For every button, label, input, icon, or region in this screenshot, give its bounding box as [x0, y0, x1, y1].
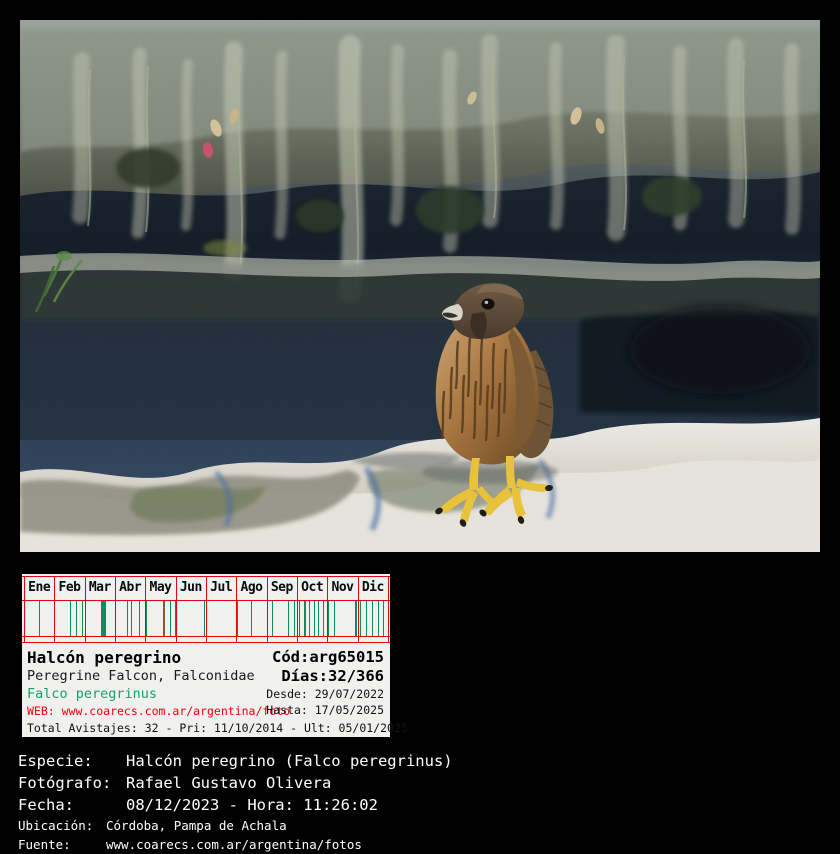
card-text-block: Halcón peregrino Peregrine Falcon, Falco…: [22, 648, 390, 737]
sighting-tick: [175, 601, 176, 636]
days-count: Días:32/366: [281, 667, 384, 685]
sighting-tick: [318, 601, 319, 636]
sighting-tick: [372, 601, 373, 636]
sighting-tick: [82, 601, 83, 636]
sighting-tick: [309, 601, 310, 636]
species-info-card: EneFebMarAbrMayJunJulAgoSepOctNovDic Hal…: [22, 574, 390, 737]
photograph: [20, 20, 820, 552]
sighting-tick: [251, 601, 252, 636]
sighting-tick: [237, 601, 238, 636]
metadata-label: Especie:: [18, 750, 126, 772]
metadata-row: Fotógrafo:Rafael Gustavo Olivera: [18, 772, 822, 794]
sighting-tick: [146, 601, 147, 636]
common-name: Halcón peregrino: [27, 648, 181, 667]
sighting-tick: [204, 601, 205, 636]
calendar-month-label-jul: Jul: [206, 576, 236, 598]
sighting-tick: [378, 601, 379, 636]
calendar-rule: [22, 642, 390, 643]
metadata-value: 08/12/2023 - Hora: 11:26:02: [126, 794, 378, 816]
metadata-value: Córdoba, Pampa de Achala: [106, 816, 287, 835]
metadata-value: Rafael Gustavo Olivera: [126, 772, 331, 794]
sighting-tick: [101, 601, 106, 636]
sighting-tick: [131, 601, 132, 636]
calendar-month-label-may: May: [145, 576, 175, 598]
sighting-tick: [323, 601, 324, 636]
calendar-month-label-mar: Mar: [85, 576, 115, 598]
sighting-tick: [294, 601, 295, 636]
calendar-month-label-abr: Abr: [115, 576, 145, 598]
sighting-tick: [355, 601, 357, 636]
sighting-tick: [366, 601, 367, 636]
sighting-tick: [314, 601, 315, 636]
calendar-rule: [22, 636, 390, 637]
species-code: Cód:arg65015: [272, 648, 384, 666]
metadata-value[interactable]: www.coarecs.com.ar/argentina/fotos: [106, 835, 362, 854]
calendar-month-label-ago: Ago: [236, 576, 266, 598]
english-name: Peregrine Falcon, Falconidae: [27, 668, 255, 684]
sightings-calendar: EneFebMarAbrMayJunJulAgoSepOctNovDic: [22, 574, 390, 646]
sighting-tick: [299, 601, 300, 636]
scientific-name: Falco peregrinus: [27, 686, 157, 702]
metadata-row: Fuente:www.coarecs.com.ar/argentina/foto…: [18, 835, 822, 854]
falcon-photo-image: [20, 20, 820, 552]
sighting-tick: [360, 601, 361, 636]
calendar-month-label-jun: Jun: [176, 576, 206, 598]
calendar-month-label-nov: Nov: [327, 576, 357, 598]
date-to: Hasta: 17/05/2025: [266, 703, 384, 717]
sighting-tick: [163, 601, 165, 636]
sighting-tick: [304, 601, 306, 636]
metadata-label: Fuente:: [18, 835, 106, 854]
metadata-label: Fotógrafo:: [18, 772, 126, 794]
metadata-label: Fecha:: [18, 794, 126, 816]
photo-metadata-footer: Especie:Halcón peregrino (Falco peregrin…: [18, 750, 822, 854]
metadata-label: Ubicación:: [18, 816, 106, 835]
calendar-month-label-sep: Sep: [267, 576, 297, 598]
metadata-row: Fecha:08/12/2023 - Hora: 11:26:02: [18, 794, 822, 816]
calendar-month-label-ene: Ene: [24, 576, 54, 598]
metadata-row: Ubicación:Córdoba, Pampa de Achala: [18, 816, 822, 835]
web-link[interactable]: WEB: www.coarecs.com.ar/argentina/foto: [27, 704, 290, 718]
calendar-month-label-dic: Dic: [358, 576, 388, 598]
sighting-tick: [334, 601, 335, 636]
total-sightings: Total Avistajes: 32 - Pri: 11/10/2014 - …: [27, 721, 408, 735]
date-from: Desde: 29/07/2022: [266, 687, 384, 701]
metadata-row: Especie:Halcón peregrino (Falco peregrin…: [18, 750, 822, 772]
sighting-tick: [39, 601, 40, 636]
sighting-tick: [70, 601, 71, 636]
sighting-tick: [383, 601, 384, 636]
sighting-tick: [170, 601, 171, 636]
sighting-tick: [127, 601, 128, 636]
sighting-tick: [272, 601, 273, 636]
metadata-value: Halcón peregrino (Falco peregrinus): [126, 750, 453, 772]
sighting-tick: [139, 601, 140, 636]
sighting-tick: [76, 601, 77, 636]
sighting-tick: [288, 601, 289, 636]
sighting-tick: [328, 601, 329, 636]
calendar-month-label-feb: Feb: [54, 576, 84, 598]
calendar-month-label-oct: Oct: [297, 576, 327, 598]
